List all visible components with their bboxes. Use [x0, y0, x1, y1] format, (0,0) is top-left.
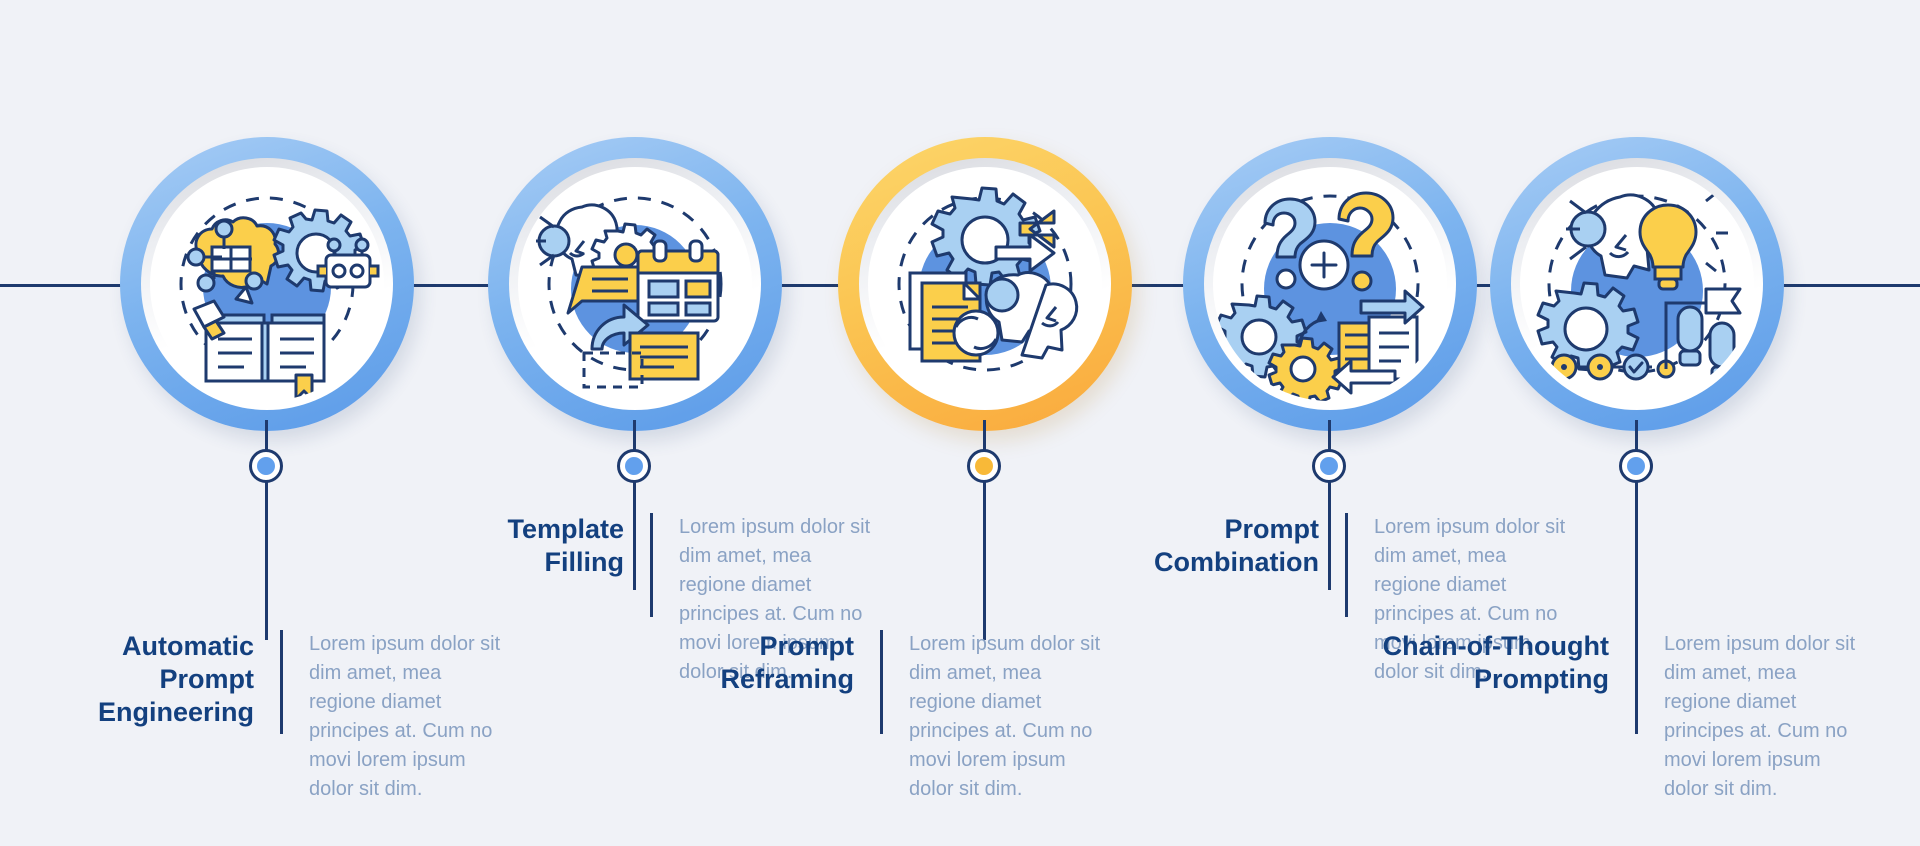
connector-dot-4[interactable] — [1619, 449, 1653, 483]
circle-core — [1520, 167, 1754, 401]
step-title-0: Automatic Prompt Engineering — [0, 630, 280, 729]
step-title-3: Prompt Combination — [1065, 513, 1345, 579]
step-circle-template-filling[interactable] — [488, 137, 782, 431]
face-gear-calendar-template-icon — [518, 167, 752, 401]
connector-dot-2-active[interactable] — [967, 449, 1001, 483]
step-title-1: Template Filling — [370, 513, 650, 579]
circle-core — [150, 167, 384, 401]
question-marks-plus-gears-documents-icon — [1213, 167, 1447, 401]
connector-dot-3[interactable] — [1312, 449, 1346, 483]
brain-gear-robot-book-icon — [150, 167, 384, 401]
step-description-4: Lorem ipsum dolor sit dim amet, mea regi… — [1638, 630, 1868, 804]
step-circle-prompt-combination[interactable] — [1183, 137, 1477, 431]
step-text-chain-of-thought-prompting: Chain-of-Thought Prompting Lorem ipsum d… — [1340, 630, 1920, 804]
step-title-4: Chain-of-Thought Prompting — [1340, 630, 1635, 696]
step-circle-automatic-prompt-engineering[interactable] — [120, 137, 414, 431]
step-circle-chain-of-thought-prompting[interactable] — [1490, 137, 1784, 431]
connector-dot-0[interactable] — [249, 449, 283, 483]
step-circle-prompt-reframing[interactable] — [838, 137, 1132, 431]
circle-core — [1213, 167, 1447, 401]
step-text-prompt-reframing: Prompt Reframing Lorem ipsum dolor sit d… — [600, 630, 1145, 804]
profile-lightbulb-gear-steps-flag-icon — [1520, 167, 1754, 401]
circle-core — [868, 167, 1102, 401]
circle-core — [518, 167, 752, 401]
gear-arrows-document-profile-icon — [868, 167, 1102, 401]
connector-dot-1[interactable] — [617, 449, 651, 483]
step-title-2: Prompt Reframing — [600, 630, 880, 696]
timeline-infographic: Automatic Prompt Engineering Lorem ipsum… — [0, 0, 1920, 846]
